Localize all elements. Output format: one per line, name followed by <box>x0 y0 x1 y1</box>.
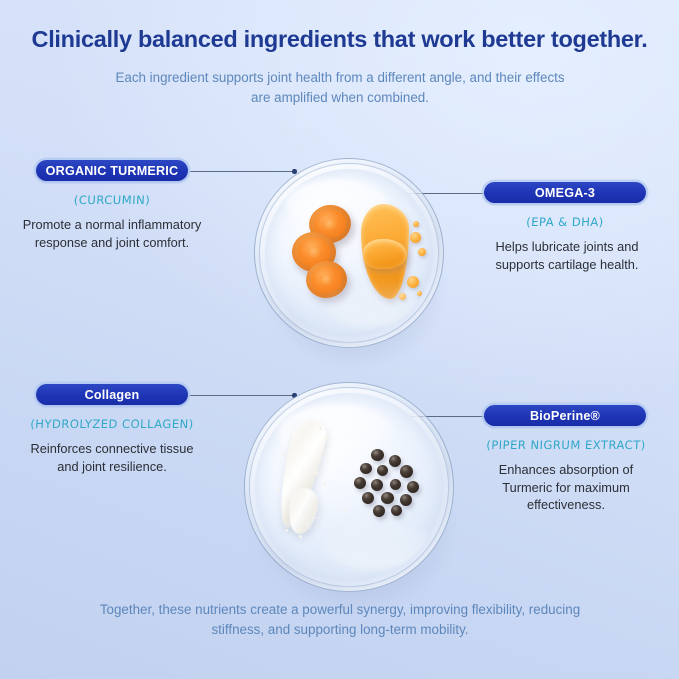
peppercorn <box>381 492 394 504</box>
ingredient-subtitle-collagen: (HYDROLYZED COLLAGEN) <box>24 417 201 431</box>
peppercorn <box>377 465 388 476</box>
ingredient-description-bioperine: Enhances absorption of Turmeric for maxi… <box>478 461 654 514</box>
page-title: Clinically balanced ingredients that wor… <box>0 26 679 53</box>
connector-line-collagen <box>190 395 295 396</box>
ingredient-pill-bioperine[interactable]: BioPerine® <box>484 405 646 426</box>
peppercorn <box>373 505 385 517</box>
ingredient-block-organic-turmeric: ORGANIC TURMERIC (CURCUMIN) Promote a no… <box>22 160 202 251</box>
ingredient-pill-collagen[interactable]: Collagen <box>36 384 188 405</box>
peppercorn <box>400 465 413 478</box>
peppercorn <box>362 492 374 504</box>
peppercorn <box>390 479 401 490</box>
ingredient-pill-organic-turmeric[interactable]: ORGANIC TURMERIC <box>36 160 188 181</box>
ingredient-block-bioperine: BioPerine® (PIPER NIGRUM EXTRACT) Enhanc… <box>478 405 660 514</box>
dish-lower-gloss <box>325 283 422 327</box>
connector-line-turmeric <box>190 171 295 172</box>
ingredient-subtitle-omega3: (EPA & DHA) <box>484 215 647 229</box>
peppercorn <box>400 494 412 506</box>
peppercorn <box>407 481 419 493</box>
oil-droplet <box>418 248 426 256</box>
page-subtitle: Each ingredient supports joint health fr… <box>108 68 572 108</box>
ingredient-block-omega3: OMEGA-3 (EPA & DHA) Helps lubricate join… <box>478 182 658 273</box>
ingredient-subtitle-organic-turmeric: (CURCUMIN) <box>36 193 189 207</box>
peppercorn <box>391 505 402 516</box>
ingredient-description-collagen: Reinforces connective tissue and joint r… <box>22 440 202 475</box>
turmeric-oil-blob-lobe <box>363 239 407 269</box>
ingredient-block-collagen: Collagen (HYDROLYZED COLLAGEN) Reinforce… <box>22 384 202 475</box>
dish-surface <box>265 169 433 337</box>
dish-surface <box>255 393 443 581</box>
peppercorn <box>371 479 383 491</box>
peppercorn <box>371 449 384 461</box>
infographic-stage: Clinically balanced ingredients that wor… <box>0 0 679 679</box>
summary-text: Together, these nutrients create a power… <box>88 600 592 640</box>
petri-dish-collagen-pepper <box>244 382 454 592</box>
peppercorn <box>389 455 401 467</box>
petri-dish-turmeric <box>254 158 444 348</box>
ingredient-pill-omega3[interactable]: OMEGA-3 <box>484 182 646 203</box>
ingredient-description-organic-turmeric: Promote a normal inflammatory response a… <box>22 216 202 251</box>
ingredient-subtitle-bioperine: (PIPER NIGRUM EXTRACT) <box>478 438 655 452</box>
oil-droplet <box>413 221 419 227</box>
oil-droplet <box>410 232 421 243</box>
oil-droplet <box>407 276 419 288</box>
dish-lower-gloss <box>323 521 432 570</box>
ingredient-description-omega3: Helps lubricate joints and supports cart… <box>478 238 656 273</box>
peppercorn <box>360 463 372 474</box>
peppercorn <box>354 477 366 489</box>
